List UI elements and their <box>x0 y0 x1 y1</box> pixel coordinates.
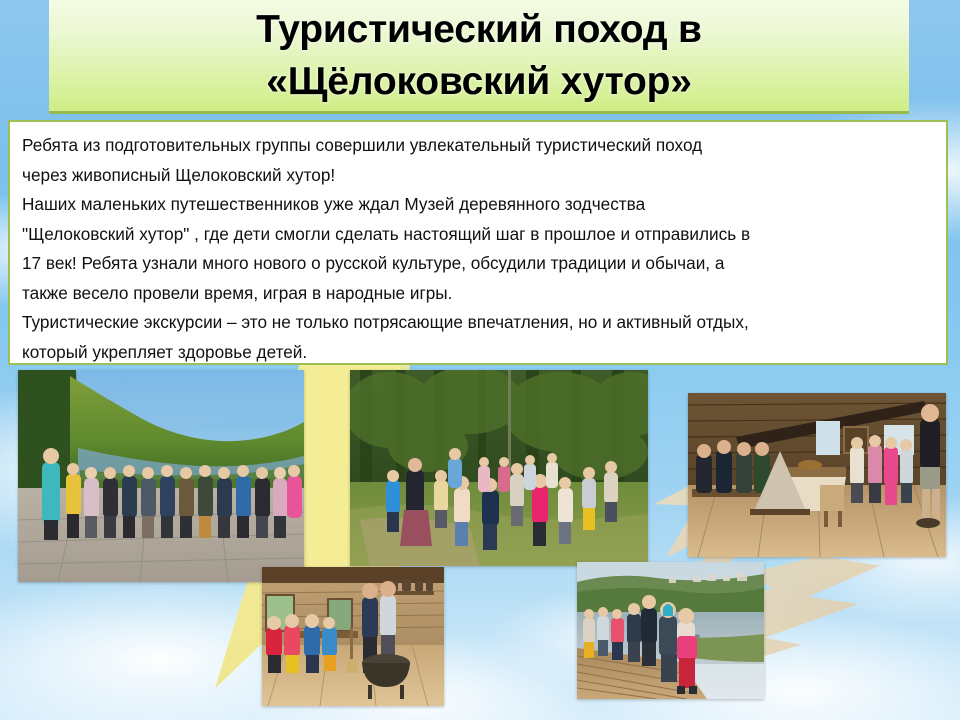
photo-museum-room-excursion-image <box>688 393 946 557</box>
photo-izba-interior-children <box>262 567 444 706</box>
photo-museum-room-excursion <box>688 393 946 557</box>
photo-group-photo-by-river-image <box>18 370 304 582</box>
description-text: Ребята из подготовительных группы соверш… <box>22 131 934 367</box>
photo-children-circle-dance-image <box>350 370 648 566</box>
photo-group-photo-by-river <box>18 370 304 582</box>
slide-canvas: Туристический поход в «Щёлоковский хутор… <box>0 0 960 720</box>
page-title: Туристический поход в «Щёлоковский хутор… <box>256 4 702 108</box>
title-banner: Туристический поход в «Щёлоковский хутор… <box>49 0 909 114</box>
description-textbox: Ребята из подготовительных группы соверш… <box>8 120 948 365</box>
photo-lake-boardwalk-walk-image <box>577 562 764 699</box>
photo-izba-interior-children-image <box>262 567 444 706</box>
photo-lake-boardwalk-walk <box>577 562 764 699</box>
photo-children-circle-dance <box>350 370 648 566</box>
